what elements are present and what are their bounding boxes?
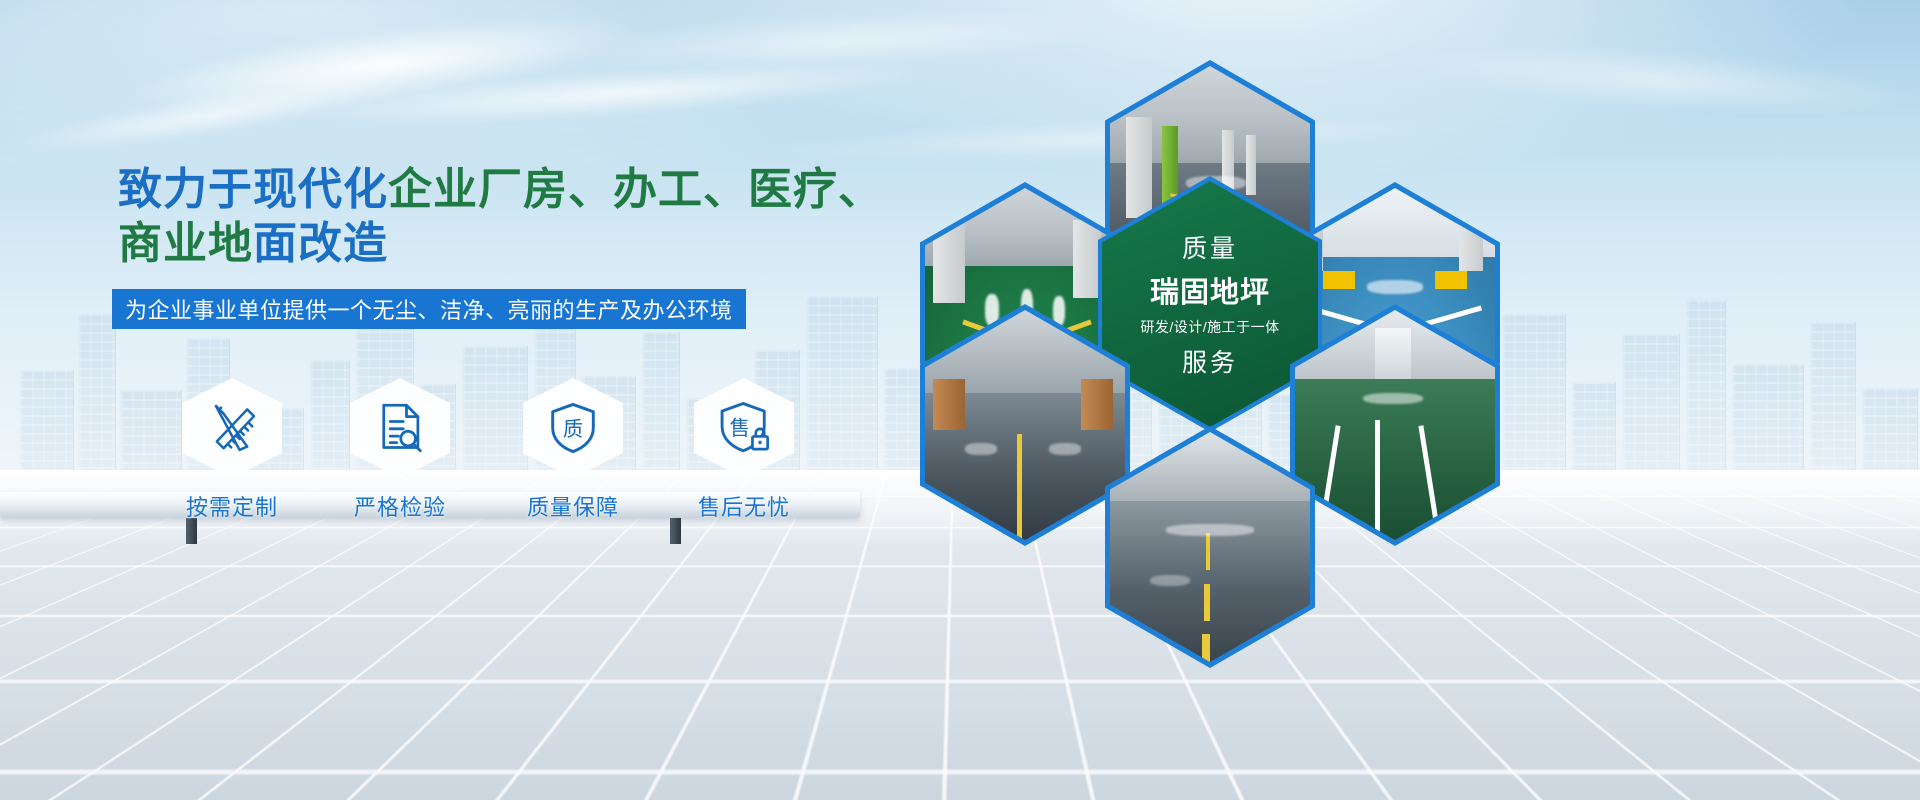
ruler-pencil-icon	[205, 401, 259, 455]
headline-line2-blue: 面改造	[253, 219, 388, 268]
headline-line1-blue: 致力于现代化	[118, 165, 388, 214]
headline-line-2: 商业地面改造	[118, 217, 948, 271]
feature-item-inspection[interactable]: 严格检验	[350, 378, 450, 478]
hexagon-shape	[350, 378, 450, 478]
hexagon-shape: 售	[694, 378, 794, 478]
brand-bottom-text: 服务	[1182, 343, 1238, 379]
banner-headline: 致力于现代化企业厂房、办工、医疗、 商业地面改造	[118, 163, 948, 270]
photo-hexagon-green-corridor[interactable]	[1105, 426, 1315, 668]
feature-label: 质量保障	[498, 490, 648, 522]
photo-hexagon-green-parking[interactable]	[1290, 304, 1500, 546]
brand-hexagon-content: 质量 瑞固地坪 研发/设计/施工于一体 服务	[1102, 181, 1318, 427]
svg-text:质: 质	[563, 418, 583, 441]
feature-label: 严格检验	[325, 490, 475, 522]
feature-item-custom[interactable]: 按需定制	[182, 378, 282, 478]
hexagon-shape: 质	[523, 378, 623, 478]
shield-quality-icon: 质	[547, 400, 599, 456]
headline-line1-green: 企业厂房、办工、医疗、	[388, 165, 883, 214]
document-search-icon	[374, 401, 426, 455]
headline-line-1: 致力于现代化企业厂房、办工、医疗、	[118, 163, 948, 217]
hexagon-shape	[182, 378, 282, 478]
feature-list: 按需定制 严格检验 质	[160, 378, 860, 528]
svg-text:售: 售	[730, 417, 750, 440]
brand-top-text: 质量	[1182, 229, 1238, 265]
headline-line2-green: 商业地	[118, 219, 253, 268]
feature-label: 售后无忧	[669, 490, 819, 522]
promo-banner: 致力于现代化企业厂房、办工、医疗、 商业地面改造 为企业事业单位提供一个无尘、洁…	[0, 0, 1920, 800]
photo-hexagon-dark-garage[interactable]	[920, 304, 1130, 546]
brand-subtitle: 研发/设计/施工于一体	[1140, 317, 1279, 337]
hexagon-photo-cluster: 质量 瑞固地坪 研发/设计/施工于一体 服务	[900, 60, 1540, 600]
feature-item-after-sales[interactable]: 售 售后无忧	[694, 378, 794, 478]
feature-item-quality[interactable]: 质 质量保障	[523, 378, 623, 478]
after-sales-badge-icon: 售	[717, 401, 771, 455]
feature-label: 按需定制	[157, 490, 307, 522]
brand-hexagon[interactable]: 质量 瑞固地坪 研发/设计/施工于一体 服务	[1098, 176, 1322, 432]
subtitle-text: 为企业事业单位提供一个无尘、洁净、亮丽的生产及办公环境	[125, 293, 733, 325]
subtitle-bar: 为企业事业单位提供一个无尘、洁净、亮丽的生产及办公环境	[112, 289, 746, 329]
brand-name: 瑞固地坪	[1150, 269, 1270, 311]
